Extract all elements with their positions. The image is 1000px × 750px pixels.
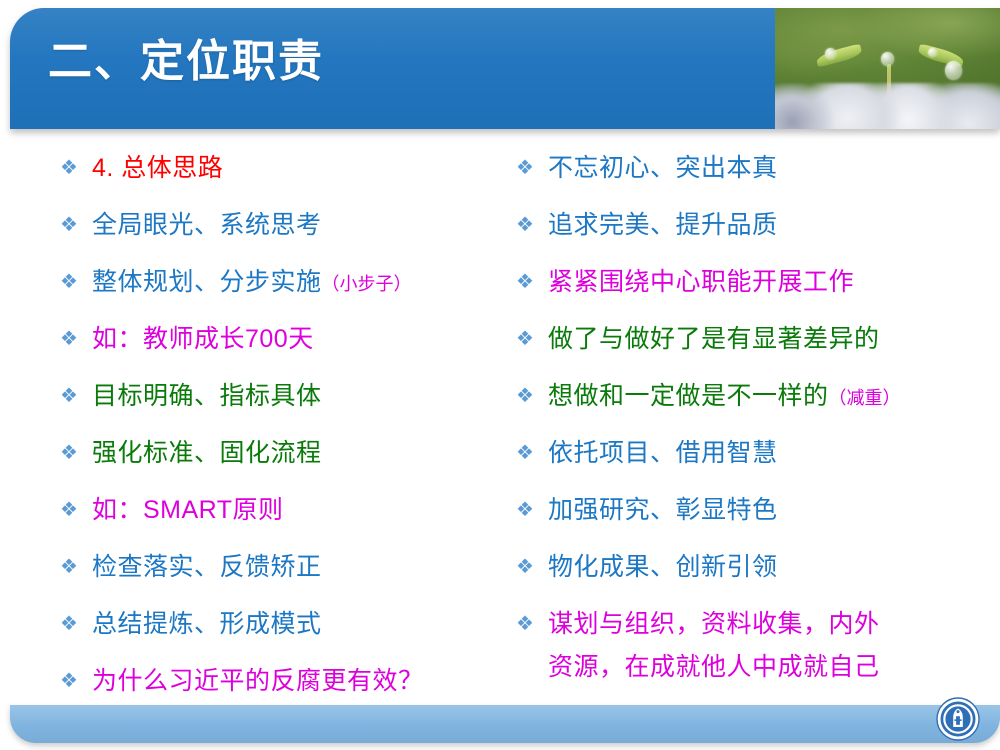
diamond-bullet-icon: ❖ [516, 150, 548, 186]
bullet-main-text: 全局眼光、系统思考 [92, 211, 322, 239]
bullet-row: ❖紧紧围绕中心职能开展工作 [516, 264, 986, 321]
dew-drop [945, 61, 962, 80]
bullet-main-text: 强化标准、固化流程 [92, 439, 322, 467]
dew-drop [928, 48, 937, 57]
dew-drop [825, 48, 836, 59]
bullet-main-text: 依托项目、借用智慧 [548, 439, 778, 467]
bullet-main-text: 为什么习近平的反腐更有效？ [92, 667, 424, 695]
bullet-text: 检查落实、反馈矫正 [92, 549, 500, 585]
footer-bar [10, 705, 1000, 743]
bullet-text: 如：教师成长700天 [92, 321, 500, 357]
diamond-bullet-icon: ❖ [60, 492, 92, 528]
bullet-text: 全局眼光、系统思考 [92, 207, 500, 243]
diamond-bullet-icon: ❖ [60, 663, 92, 699]
diamond-bullet-icon: ❖ [60, 378, 92, 414]
dew-drop [881, 52, 894, 66]
bullet-note-text: （减重） [829, 388, 901, 408]
diamond-bullet-icon: ❖ [60, 549, 92, 585]
bullet-text: 如：SMART原则 [92, 492, 500, 528]
bullet-row: ❖想做和一定做是不一样的（减重） [516, 378, 986, 435]
bullet-main-text: 检查落实、反馈矫正 [92, 553, 322, 581]
diamond-bullet-icon: ❖ [516, 207, 548, 243]
bullet-text: 强化标准、固化流程 [92, 435, 500, 471]
bullet-main-text: 追求完美、提升品质 [548, 211, 778, 239]
bullet-main-text: 加强研究、彰显特色 [548, 496, 778, 524]
bullet-row: ❖依托项目、借用智慧 [516, 435, 986, 492]
bullet-main-text: 如：SMART原则 [92, 496, 284, 524]
bullet-text: 不忘初心、突出本真 [548, 150, 986, 186]
bullet-text: 追求完美、提升品质 [548, 207, 986, 243]
bullet-row: ❖追求完美、提升品质 [516, 207, 986, 264]
bullet-text: 想做和一定做是不一样的（减重） [548, 378, 986, 416]
diamond-bullet-icon: ❖ [60, 321, 92, 357]
bullet-text: 总结提炼、形成模式 [92, 606, 500, 642]
bullet-row: ❖4. 总体思路 [60, 150, 500, 207]
bullet-main-text: 做了与做好了是有显著差异的 [548, 325, 880, 353]
bullet-row: ❖谋划与组织，资料收集，内外资源，在成就他人中成就自己 [516, 606, 986, 720]
bullet-main-text: 紧紧围绕中心职能开展工作 [548, 268, 854, 296]
bullet-main-text: 物化成果、创新引领 [548, 553, 778, 581]
right-bullet-column: ❖不忘初心、突出本真❖追求完美、提升品质❖紧紧围绕中心职能开展工作❖做了与做好了… [516, 150, 986, 720]
seedling-with-dew-photo [775, 8, 1000, 129]
bullet-text: 为什么习近平的反腐更有效？ [92, 663, 500, 699]
bullet-text: 目标明确、指标具体 [92, 378, 500, 414]
bullet-text: 谋划与组织，资料收集，内外资源，在成就他人中成就自己 [548, 606, 986, 692]
bullet-text: 做了与做好了是有显著差异的 [548, 321, 986, 357]
bullet-row: ❖整体规划、分步实施（小步子） [60, 264, 500, 321]
diamond-bullet-icon: ❖ [60, 207, 92, 243]
bullet-row: ❖加强研究、彰显特色 [516, 492, 986, 549]
bullet-row: ❖全局眼光、系统思考 [60, 207, 500, 264]
bullet-row: ❖不忘初心、突出本真 [516, 150, 986, 207]
bullet-text: 加强研究、彰显特色 [548, 492, 986, 528]
bullet-text: 4. 总体思路 [92, 150, 500, 186]
bullet-text: 依托项目、借用智慧 [548, 435, 986, 471]
diamond-bullet-icon: ❖ [60, 435, 92, 471]
bullet-row: ❖物化成果、创新引领 [516, 549, 986, 606]
bullet-row: ❖如：SMART原则 [60, 492, 500, 549]
bullet-main-text: 目标明确、指标具体 [92, 382, 322, 410]
diamond-bullet-icon: ❖ [516, 606, 548, 642]
university-seal-emblem [936, 697, 980, 741]
bullet-main-text: 整体规划、分步实施 [92, 268, 322, 296]
bullet-main-text: 谋划与组织，资料收集，内外 [548, 610, 880, 638]
page-title: 二、定位职责 [48, 36, 324, 88]
bullet-main-text: 4. 总体思路 [92, 154, 223, 182]
diamond-bullet-icon: ❖ [60, 150, 92, 186]
slide-canvas: 二、定位职责 ❖4. 总体思路❖全局眼光、系统思考❖整体规划、分步实施（小步子）… [0, 0, 1000, 750]
left-bullet-column: ❖4. 总体思路❖全局眼光、系统思考❖整体规划、分步实施（小步子）❖如：教师成长… [60, 150, 500, 720]
diamond-bullet-icon: ❖ [516, 378, 548, 414]
diamond-bullet-icon: ❖ [60, 264, 92, 300]
bullet-main-text: 总结提炼、形成模式 [92, 610, 322, 638]
diamond-bullet-icon: ❖ [516, 321, 548, 357]
bullet-text: 整体规划、分步实施（小步子） [92, 264, 500, 302]
bullet-text: 物化成果、创新引领 [548, 549, 986, 585]
diamond-bullet-icon: ❖ [516, 492, 548, 528]
bullet-row: ❖检查落实、反馈矫正 [60, 549, 500, 606]
bullet-main-text: 如：教师成长700天 [92, 325, 314, 353]
bullet-row: ❖目标明确、指标具体 [60, 378, 500, 435]
diamond-bullet-icon: ❖ [516, 549, 548, 585]
diamond-bullet-icon: ❖ [60, 606, 92, 642]
diamond-bullet-icon: ❖ [516, 435, 548, 471]
bullet-main-text: 不忘初心、突出本真 [548, 154, 778, 182]
bullet-wrapped-line: 资源，在成就他人中成就自己 [548, 642, 986, 692]
content-body: ❖4. 总体思路❖全局眼光、系统思考❖整体规划、分步实施（小步子）❖如：教师成长… [0, 150, 1000, 705]
bullet-note-text: （小步子） [322, 274, 412, 294]
bullet-main-text: 想做和一定做是不一样的 [548, 382, 829, 410]
bullet-text: 紧紧围绕中心职能开展工作 [548, 264, 986, 300]
bullet-row: ❖强化标准、固化流程 [60, 435, 500, 492]
bullet-row: ❖如：教师成长700天 [60, 321, 500, 378]
bullet-row: ❖做了与做好了是有显著差异的 [516, 321, 986, 378]
pebbles-foreground [775, 83, 1000, 129]
diamond-bullet-icon: ❖ [516, 264, 548, 300]
bullet-row: ❖总结提炼、形成模式 [60, 606, 500, 663]
